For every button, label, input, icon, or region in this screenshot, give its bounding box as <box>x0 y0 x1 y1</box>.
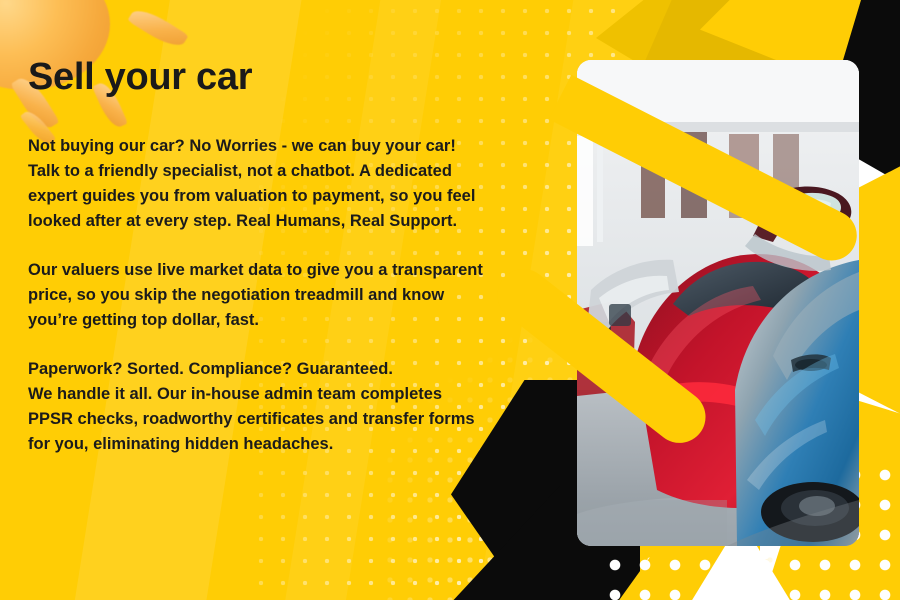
text-line: you’re getting top dollar, fast. <box>28 308 568 333</box>
body-copy: Not buying our car? No Worries - we can … <box>28 134 568 457</box>
text-line: PPSR checks, roadworthy certificates and… <box>28 407 568 432</box>
text-line: price, so you skip the negotiation tread… <box>28 283 568 308</box>
text-line: Not buying our car? No Worries - we can … <box>28 134 568 159</box>
paragraph-paperwork: Paperwork? Sorted. Compliance? Guarantee… <box>28 357 568 457</box>
paragraph-intro: Not buying our car? No Worries - we can … <box>28 134 568 234</box>
paragraph-valuation: Our valuers use live market data to give… <box>28 258 568 333</box>
text-line: looked after at every step. Real Humans,… <box>28 209 568 234</box>
text-line: Our valuers use live market data to give… <box>28 258 568 283</box>
text-line: Paperwork? Sorted. Compliance? Guarantee… <box>28 357 568 382</box>
sell-your-car-banner: Sell your car Not buying our car? No Wor… <box>0 0 900 600</box>
text-line: Talk to a friendly specialist, not a cha… <box>28 159 568 184</box>
text-line: expert guides you from valuation to paym… <box>28 184 568 209</box>
page-title: Sell your car <box>28 56 252 99</box>
text-line: We handle it all. Our in-house admin tea… <box>28 382 568 407</box>
text-line: for you, eliminating hidden headaches. <box>28 432 568 457</box>
